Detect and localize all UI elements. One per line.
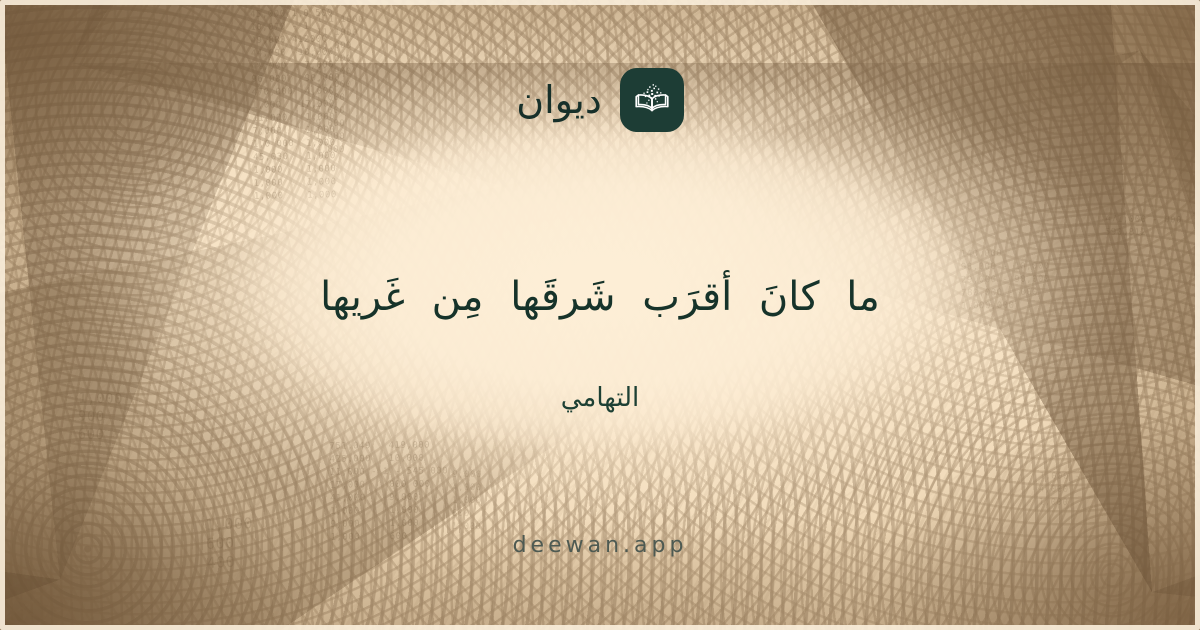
card-content: ديوان ما كانَ أقرَب شَرقَها مِن غَريها ا… [0, 0, 1200, 630]
brand-name: ديوان [516, 81, 602, 119]
quote-card: 45,000 1,0 500 10,070 - 1 49,800 412000 … [0, 0, 1200, 630]
footer-container: deewan.app [0, 533, 1200, 559]
open-book-with-sparkles-icon [620, 68, 684, 132]
verse-container: ما كانَ أقرَب شَرقَها مِن غَريها [0, 268, 1200, 326]
brand-lockup: ديوان [516, 68, 684, 132]
poem-author: التهامي [0, 383, 1200, 414]
author-container: التهامي [0, 383, 1200, 414]
poem-verse: ما كانَ أقرَب شَرقَها مِن غَريها [40, 268, 1160, 326]
site-url: deewan.app [0, 533, 1200, 559]
